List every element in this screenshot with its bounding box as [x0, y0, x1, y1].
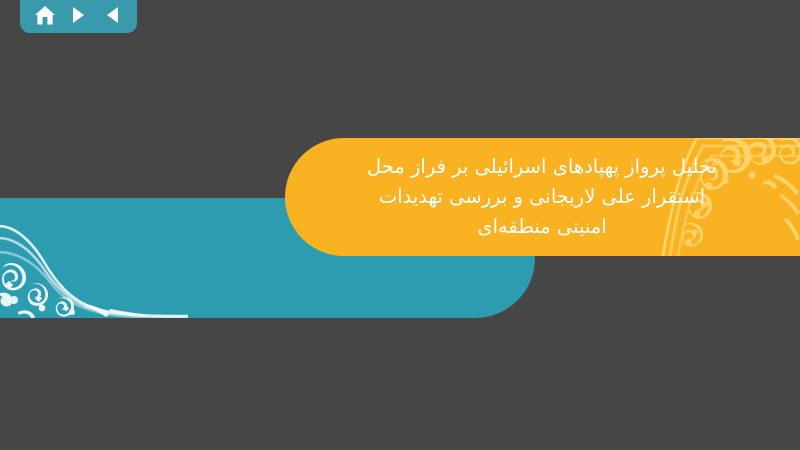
title-line-1: تحلیل پرواز پهپادهای اسرائیلی بر فراز مح… [310, 152, 774, 182]
title-banner: تحلیل پرواز پهپادهای اسرائیلی بر فراز مح… [285, 138, 800, 256]
title-line-3: امنیتی منطقه‌ای [310, 212, 774, 242]
home-button[interactable] [31, 3, 58, 27]
forward-button[interactable] [65, 3, 92, 27]
arabesque-ornament-bottom-left [0, 208, 188, 318]
triangle-right-icon [70, 6, 87, 24]
title-line-2: استقرار علی لاریجانی و بررسی تهدیدات [310, 182, 774, 212]
back-button[interactable] [99, 3, 126, 27]
home-icon [34, 5, 56, 26]
navigation-bar [20, 0, 137, 33]
slide-canvas: تحلیل پرواز پهپادهای اسرائیلی بر فراز مح… [0, 0, 800, 450]
page-title: تحلیل پرواز پهپادهای اسرائیلی بر فراز مح… [310, 152, 780, 242]
triangle-left-icon [104, 6, 121, 24]
